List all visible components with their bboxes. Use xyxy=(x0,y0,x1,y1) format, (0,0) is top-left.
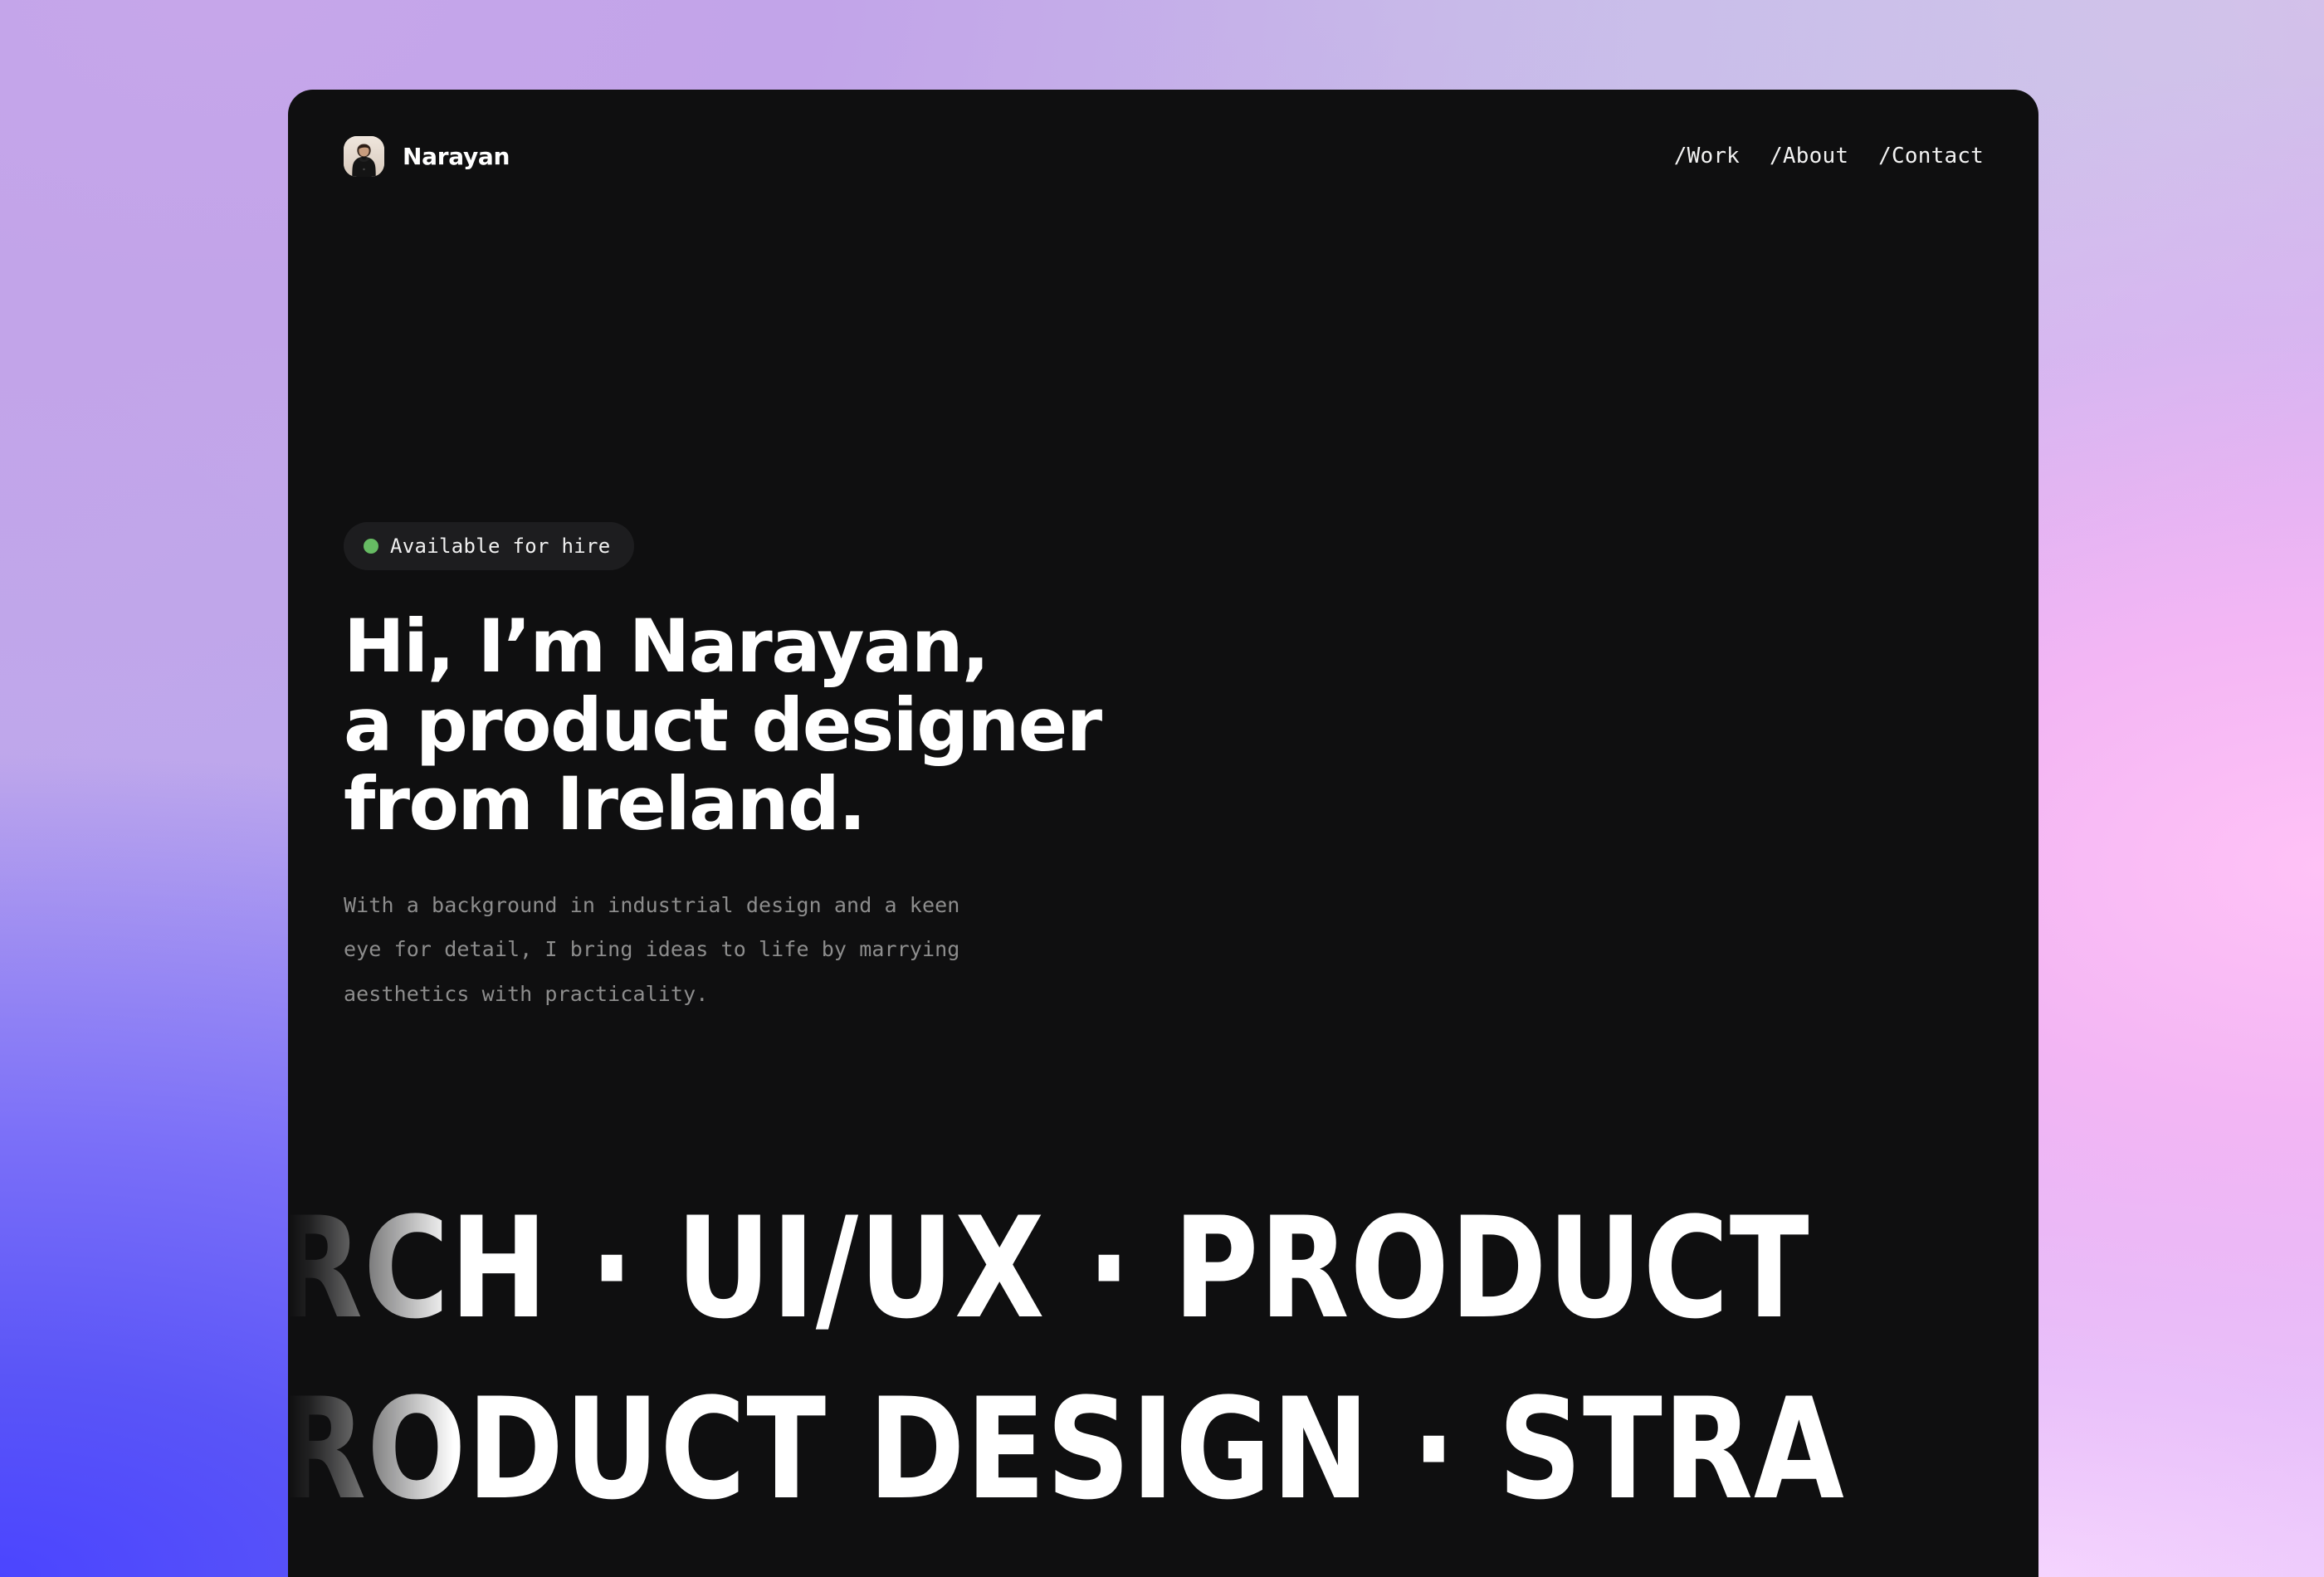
page-title: Hi, I’m Narayan, a product designer from… xyxy=(344,607,1589,843)
marquee-row-1: ARCH · UI/UX · PRODUCT xyxy=(288,1185,2038,1351)
brand-logo[interactable]: Narayan xyxy=(344,136,510,177)
marquee-row-2: PRODUCT DESIGN · STRA xyxy=(288,1366,2038,1532)
hero-section: Available for hire Hi, I’m Narayan, a pr… xyxy=(344,522,1589,1016)
main-nav: /Work /About /Contact xyxy=(1674,144,1984,168)
availability-label: Available for hire xyxy=(390,535,611,558)
hero-title-line-2: a product designer xyxy=(344,686,1589,764)
marquee-row-2-text: PRODUCT DESIGN · STRA xyxy=(288,1366,1909,1532)
avatar-photo-icon xyxy=(344,136,384,177)
site-header: Narayan /Work /About /Contact xyxy=(288,90,2038,222)
hero-description-line-2: eye for detail, I bring ideas to life by… xyxy=(344,927,1589,971)
hero-description-line-3: aesthetics with practicality. xyxy=(344,972,1589,1016)
nav-link-about[interactable]: /About xyxy=(1770,144,1848,168)
marquee-row-1-text: ARCH · UI/UX · PRODUCT xyxy=(288,1185,1908,1351)
skills-marquee: ARCH · UI/UX · PRODUCT PRODUCT DESIGN · … xyxy=(288,1185,2038,1577)
hero-title-line-1: Hi, I’m Narayan, xyxy=(344,607,1589,686)
hero-title-line-3: from Ireland. xyxy=(344,764,1589,843)
brand-name: Narayan xyxy=(403,143,510,170)
availability-badge: Available for hire xyxy=(344,522,634,570)
hero-description-line-1: With a background in industrial design a… xyxy=(344,883,1589,927)
nav-link-work[interactable]: /Work xyxy=(1674,144,1740,168)
status-dot-icon xyxy=(364,539,378,554)
nav-link-contact[interactable]: /Contact xyxy=(1878,144,1984,168)
hero-description: With a background in industrial design a… xyxy=(344,883,1589,1016)
site-card: Narayan /Work /About /Contact Available … xyxy=(288,90,2038,1577)
